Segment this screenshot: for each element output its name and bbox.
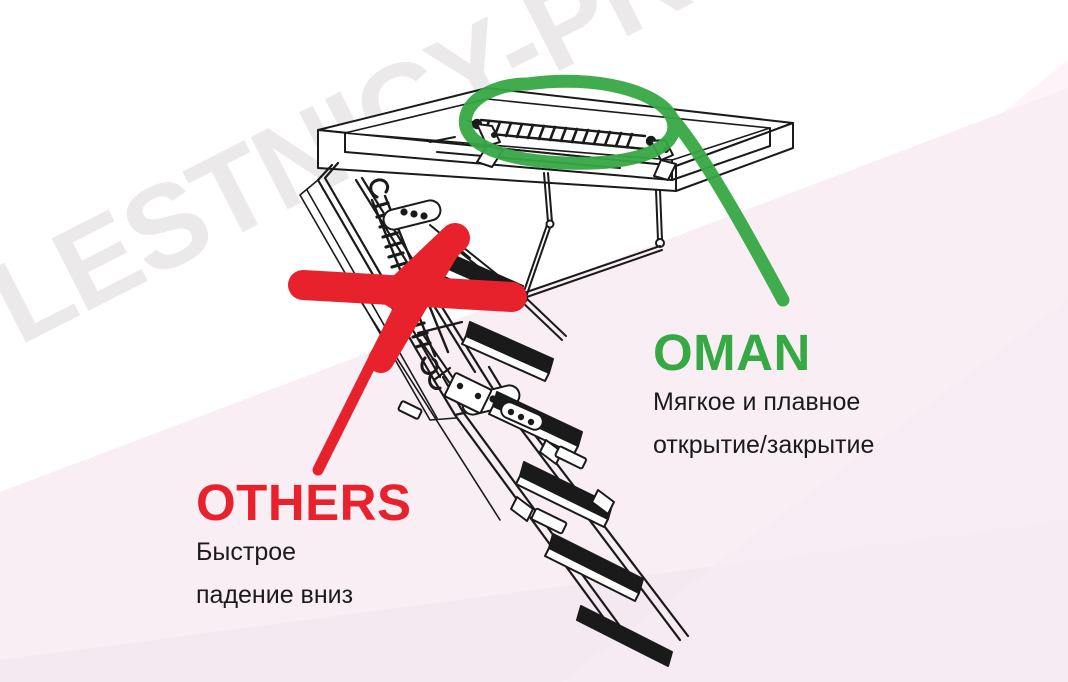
callout-oman-line2: открытие/закрытие	[653, 428, 874, 464]
callout-oman-line1: Мягкое и плавное	[653, 385, 874, 421]
callout-oman-heading: OMAN	[653, 327, 874, 378]
callout-others-heading: OTHERS	[196, 477, 412, 528]
red-cross-arrow	[0, 0, 1068, 682]
callout-others: OTHERS Быстрое падение вниз	[196, 477, 412, 613]
callout-others-line1: Быстрое	[196, 535, 412, 571]
callout-oman: OMAN Мягкое и плавное открытие/закрытие	[653, 327, 874, 463]
callout-others-line2: падение вниз	[196, 578, 412, 614]
infographic-canvas: LESTNICY-PROSTO.RU	[0, 0, 1068, 682]
